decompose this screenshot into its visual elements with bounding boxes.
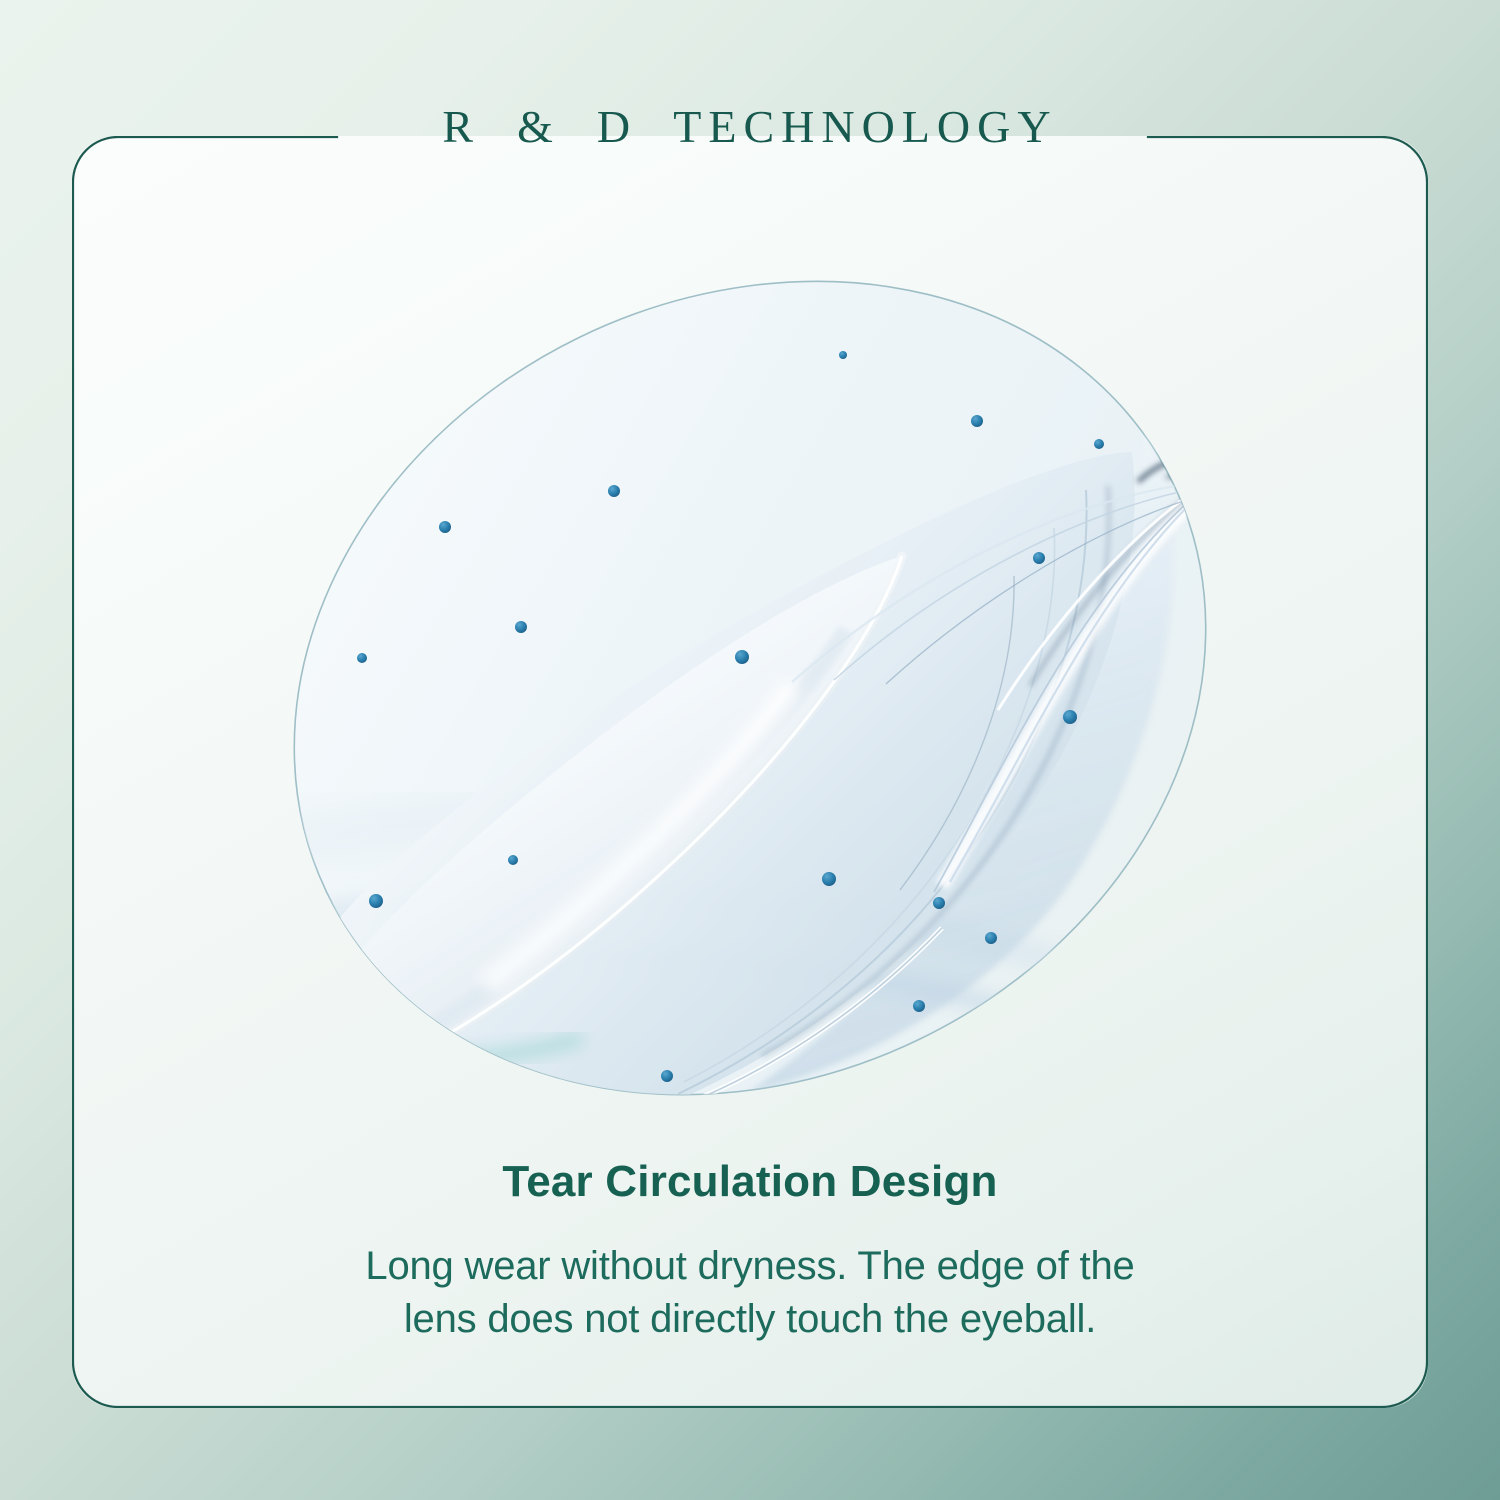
bubble-dot [508, 855, 518, 865]
bubble-dot [913, 1000, 925, 1012]
bubble-dot [608, 485, 620, 497]
bubble-dot [369, 894, 383, 908]
feature-headline: Tear Circulation Design [0, 1158, 1500, 1206]
bubble-dot [492, 1074, 502, 1084]
bubble-dot [661, 1070, 673, 1082]
bubble-dot [1033, 552, 1045, 564]
hero-illustration [186, 238, 1314, 1138]
bubble-dot [715, 1108, 729, 1122]
promo-card: R & D TECHNOLOGY [0, 0, 1500, 1500]
bubble-dot [357, 653, 367, 663]
bubble-dot [839, 351, 847, 359]
bubble-dot [1063, 710, 1077, 724]
bubble-dot [515, 621, 527, 633]
bubble-dot [735, 650, 749, 664]
bubble-dot [933, 897, 945, 909]
caption-block: Tear Circulation Design Long wear withou… [0, 1158, 1500, 1346]
bubble-dot [439, 521, 451, 533]
page-title: R & D TECHNOLOGY [0, 104, 1500, 150]
bubble-dot [866, 1066, 878, 1078]
bubble-dot [985, 932, 997, 944]
feature-description: Long wear without dryness. The edge of t… [0, 1240, 1500, 1346]
bubble-dot [822, 872, 836, 886]
bubble-dot [971, 415, 983, 427]
bubble-dot [1094, 439, 1104, 449]
description-line-2: lens does not directly touch the eyeball… [0, 1293, 1500, 1346]
description-line-1: Long wear without dryness. The edge of t… [0, 1240, 1500, 1293]
